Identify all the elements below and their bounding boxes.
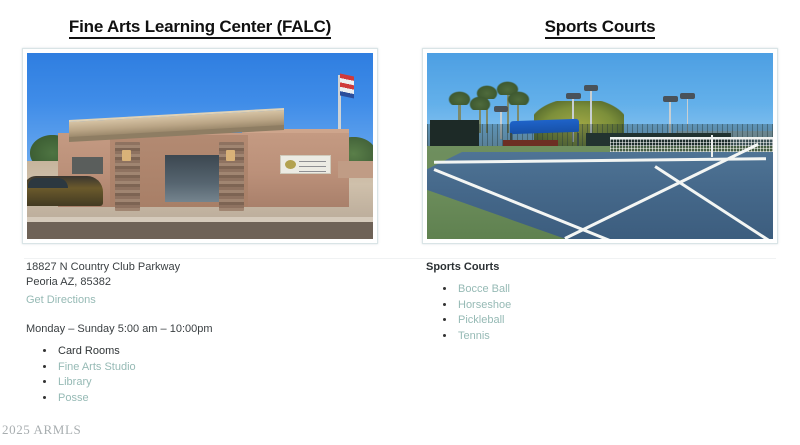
hours-of-operation: Monday – Sunday 5:00 am – 10:00pm <box>26 322 400 337</box>
perimeter-wall <box>338 161 373 178</box>
address-line-2: Peoria AZ, 85382 <box>26 275 400 290</box>
parked-vehicle <box>27 176 103 206</box>
two-column-layout: Fine Arts Learning Center (FALC) <box>0 0 800 406</box>
sports-courts-photo-frame[interactable] <box>422 48 778 244</box>
list-item[interactable]: Tennis <box>456 329 800 345</box>
right-panel-title-text: Sports Courts <box>545 17 656 39</box>
flag-icon <box>340 74 354 99</box>
window-one <box>72 157 103 174</box>
sports-courts-info-block: Sports Courts Bocce Ball Horseshoe Pickl… <box>400 244 800 344</box>
address-line-1: 18827 N Country Club Parkway <box>26 260 400 275</box>
right-panel-title: Sports Courts <box>400 0 800 37</box>
net-post <box>711 135 714 157</box>
section-divider <box>24 258 776 259</box>
wall-lamp-right-icon <box>226 150 235 161</box>
list-item[interactable]: Horseshoe <box>456 298 800 314</box>
sports-courts-subheading: Sports Courts <box>426 260 800 275</box>
list-item[interactable]: Posse <box>56 391 400 407</box>
left-panel: Fine Arts Learning Center (FALC) <box>0 0 400 406</box>
left-panel-title-text: Fine Arts Learning Center (FALC) <box>69 17 331 39</box>
get-directions-link[interactable]: Get Directions <box>26 293 96 308</box>
list-item: Card Rooms <box>56 344 400 360</box>
street <box>27 222 373 239</box>
sports-courts-list: Bocce Ball Horseshoe Pickleball Tennis <box>426 282 800 344</box>
sports-courts-photo <box>427 53 773 239</box>
amenities-page: Fine Arts Learning Center (FALC) <box>0 0 800 445</box>
falc-info-block: 18827 N Country Club Parkway Peoria AZ, … <box>0 244 400 406</box>
right-panel: Sports Courts <box>400 0 800 406</box>
falc-amenities-list: Card Rooms Fine Arts Studio Library Poss… <box>26 344 400 406</box>
falc-photo <box>27 53 373 239</box>
list-item[interactable]: Library <box>56 375 400 391</box>
armls-watermark: 2025 ARMLS <box>2 422 81 438</box>
list-item[interactable]: Pickleball <box>456 313 800 329</box>
left-panel-title: Fine Arts Learning Center (FALC) <box>0 0 400 37</box>
list-item[interactable]: Bocce Ball <box>456 282 800 298</box>
shade-canopy <box>510 119 579 134</box>
wall-lamp-left-icon <box>122 150 131 161</box>
entry-doors <box>165 155 220 202</box>
building-sign <box>280 155 332 174</box>
falc-photo-frame[interactable] <box>22 48 378 244</box>
list-item[interactable]: Fine Arts Studio <box>56 360 400 376</box>
